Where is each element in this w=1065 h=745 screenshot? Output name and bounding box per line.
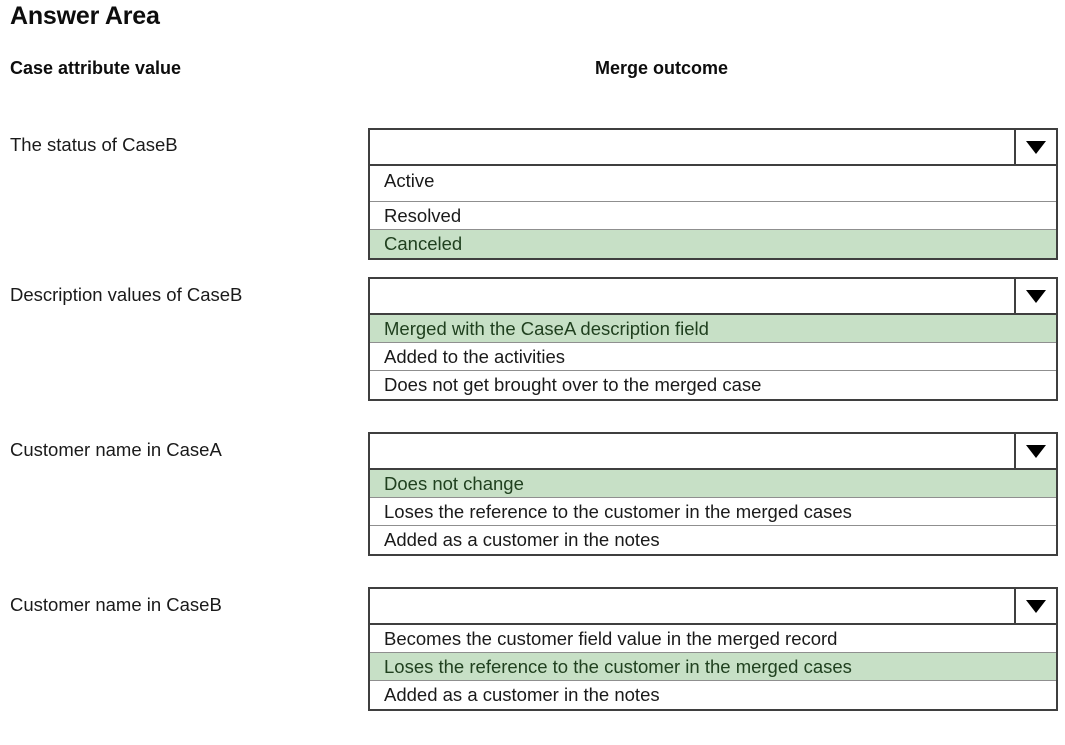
merge-outcome-dropdown[interactable]: Does not changeLoses the reference to th… — [368, 432, 1058, 556]
dropdown-selected-value[interactable] — [370, 279, 1016, 313]
dropdown-combobox[interactable] — [368, 432, 1058, 470]
dropdown-option[interactable]: Does not change — [370, 470, 1056, 498]
dropdown-option[interactable]: Loses the reference to the customer in t… — [370, 498, 1056, 526]
dropdown-option[interactable]: Added as a customer in the notes — [370, 681, 1056, 709]
merge-outcome-dropdown[interactable]: Becomes the customer field value in the … — [368, 587, 1058, 711]
page-title: Answer Area — [10, 2, 160, 31]
merge-outcome-dropdown[interactable]: ActiveResolvedCanceled — [368, 128, 1058, 260]
dropdown-option-list: Does not changeLoses the reference to th… — [368, 470, 1058, 556]
dropdown-combobox[interactable] — [368, 587, 1058, 625]
dropdown-combobox[interactable] — [368, 128, 1058, 166]
row-label: Customer name in CaseB — [10, 592, 222, 618]
dropdown-combobox[interactable] — [368, 277, 1058, 315]
dropdown-option[interactable]: Added as a customer in the notes — [370, 526, 1056, 554]
chevron-down-icon[interactable] — [1016, 279, 1056, 313]
column-header-merge-outcome: Merge outcome — [595, 58, 728, 79]
dropdown-option[interactable]: Loses the reference to the customer in t… — [370, 653, 1056, 681]
dropdown-option[interactable]: Resolved — [370, 202, 1056, 230]
dropdown-option[interactable]: Active — [370, 166, 1056, 202]
dropdown-option[interactable]: Merged with the CaseA description field — [370, 315, 1056, 343]
row-label: The status of CaseB — [10, 132, 178, 158]
dropdown-selected-value[interactable] — [370, 434, 1016, 468]
column-header-case-attribute-value: Case attribute value — [10, 58, 181, 79]
dropdown-option[interactable]: Becomes the customer field value in the … — [370, 625, 1056, 653]
dropdown-option-list: Merged with the CaseA description fieldA… — [368, 315, 1058, 401]
dropdown-option[interactable]: Canceled — [370, 230, 1056, 258]
dropdown-option-list: ActiveResolvedCanceled — [368, 166, 1058, 260]
row-label: Description values of CaseB — [10, 282, 242, 308]
row-label: Customer name in CaseA — [10, 437, 222, 463]
chevron-down-icon[interactable] — [1016, 130, 1056, 164]
dropdown-option-list: Becomes the customer field value in the … — [368, 625, 1058, 711]
dropdown-selected-value[interactable] — [370, 589, 1016, 623]
dropdown-option[interactable]: Added to the activities — [370, 343, 1056, 371]
chevron-down-icon[interactable] — [1016, 434, 1056, 468]
merge-outcome-dropdown[interactable]: Merged with the CaseA description fieldA… — [368, 277, 1058, 401]
dropdown-option[interactable]: Does not get brought over to the merged … — [370, 371, 1056, 399]
chevron-down-icon[interactable] — [1016, 589, 1056, 623]
dropdown-selected-value[interactable] — [370, 130, 1016, 164]
answer-area-page: Answer Area Case attribute value Merge o… — [0, 0, 1065, 745]
